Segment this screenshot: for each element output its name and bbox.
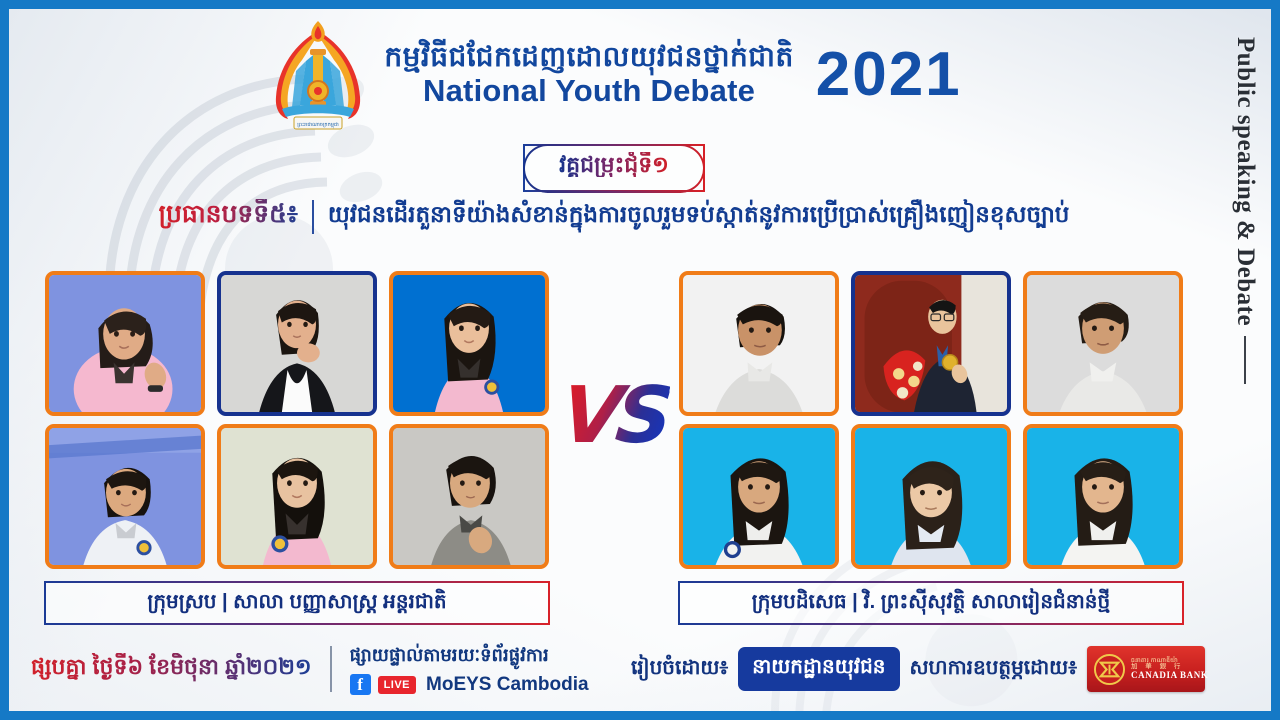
team-left-name: ក្រុមស្រប | សាលា បញ្ញាសាស្ត្រ អន្តរជាតិ	[147, 588, 446, 618]
team-left-photo-5[interactable]	[217, 424, 377, 569]
svg-text:ព្រះរាជាណាចក្រកម្ពុជា: ព្រះរាជាណាចក្រកម្ពុជា	[298, 122, 340, 129]
topic-text: យុវជនដើរតួនាទីយ៉ាងសំខាន់ក្នុងការចូលរួមទប…	[328, 201, 1070, 234]
year-label: 2021	[816, 44, 962, 106]
vertical-strip: Public speaking & Debate	[1219, 9, 1271, 711]
facebook-page-name: MoEYS Cambodia	[426, 674, 589, 696]
team-right: ក្រុមបដិសេធ | វិ. ព្រះស៊ីសុវត្ថិ សាលារៀន…	[678, 271, 1184, 625]
team-right-photo-2[interactable]	[851, 271, 1011, 416]
team-left-photo-1[interactable]	[45, 271, 205, 416]
organizer-label: រៀបចំដោយ៖	[631, 654, 728, 684]
team-left-photo-4[interactable]	[45, 424, 205, 569]
cambodia-moeys-emblem-icon: ព្រះរាជាណាចក្រកម្ពុជា	[266, 17, 370, 133]
canadia-bank-mark-icon	[1094, 654, 1125, 685]
team-right-name: ក្រុមបដិសេធ | វិ. ព្រះស៊ីសុវត្ថិ សាលារៀន…	[752, 588, 1110, 618]
team-right-name-bar: ក្រុមបដិសេធ | វិ. ព្រះស៊ីសុវត្ថិ សាលារៀន…	[678, 581, 1184, 625]
team-right-photo-6[interactable]	[1023, 424, 1183, 569]
event-date: ផ្សបគ្នា ថ្ងៃទី៦ ខែមិថុនា ឆ្នាំ២០២១	[31, 653, 312, 685]
footer-separator-1	[330, 646, 332, 692]
facebook-live-row[interactable]: f LIVE MoEYS Cambodia	[350, 674, 589, 696]
organizer-badge: នាយកដ្ឋានយុវជន	[738, 647, 899, 691]
team-left: ក្រុមស្រប | សាលា បញ្ញាសាស្ត្រ អន្តរជាតិ	[44, 271, 550, 625]
title-english: National Youth Debate	[384, 73, 793, 109]
canadia-bank-logo[interactable]: ធនាគារ កាណាឌីយ៉ា 加 華 銀 行 CANADIA BANK	[1087, 646, 1205, 692]
round-badge-wrap: វគ្គជម្រុះជុំទី១	[9, 144, 1219, 192]
facebook-icon[interactable]: f	[350, 674, 371, 695]
team-right-photo-5[interactable]	[851, 424, 1011, 569]
team-left-photo-6[interactable]	[389, 424, 549, 569]
topic-label: ប្រធានបទទី៥៖	[159, 199, 298, 235]
footer-right: រៀបចំដោយ៖ នាយកដ្ឋានយុវជន សហការឧបត្ថម្ភដោ…	[631, 646, 1205, 692]
team-right-photo-grid	[678, 271, 1184, 569]
team-right-photo-4[interactable]	[679, 424, 839, 569]
vs-column: VS	[550, 271, 678, 461]
topic-row: ប្រធានបទទី៥៖ យុវជនដើរតួនាទីយ៉ាងសំខាន់ក្ន…	[9, 199, 1219, 235]
sponsor-label: សហការឧបត្ថម្ភដោយ៖	[910, 654, 1077, 684]
team-left-name-bar: ក្រុមស្រប | សាលា បញ្ញាសាស្ត្រ អន្តរជាតិ	[44, 581, 550, 625]
broadcast-block: ផ្សាយផ្ទាល់តាមរយៈទំព័រផ្លូវការ f LIVE Mo…	[350, 643, 589, 696]
team-right-photo-1[interactable]	[679, 271, 839, 416]
broadcast-label: ផ្សាយផ្ទាល់តាមរយៈទំព័រផ្លូវការ	[350, 643, 589, 670]
title-block: កម្មវិធីជជែកដេញដោលយុវជនថ្នាក់ជាតិ Nation…	[384, 41, 793, 109]
team-left-photo-3[interactable]	[389, 271, 549, 416]
vertical-divider	[1244, 336, 1246, 384]
teams-section: ក្រុមស្រប | សាលា បញ្ញាសាស្ត្រ អន្តរជាតិ …	[9, 271, 1219, 625]
live-badge: LIVE	[378, 676, 416, 694]
poster-root: ព្រះរាជាណាចក្រកម្ពុជា កម្មវិធីជជែកដេញដោល…	[0, 0, 1280, 720]
round-badge: វគ្គជម្រុះជុំទី១	[523, 144, 705, 192]
team-right-photo-3[interactable]	[1023, 271, 1183, 416]
canadia-bank-text: ធនាគារ កាណាឌីយ៉ា 加 華 銀 行 CANADIA BANK	[1131, 658, 1208, 681]
round-badge-label: វគ្គជម្រុះជុំទី១	[559, 152, 669, 177]
title-khmer: កម្មវិធីជជែកដេញដោលយុវជនថ្នាក់ជាតិ	[384, 41, 793, 73]
vs-label: VS	[557, 371, 671, 461]
team-left-photo-2[interactable]	[217, 271, 377, 416]
team-left-photo-grid	[44, 271, 550, 569]
header: ព្រះរាជាណាចក្រកម្ពុជា កម្មវិធីជជែកដេញដោល…	[9, 17, 1219, 133]
canadia-bank-name-en: CANADIA BANK	[1131, 671, 1208, 680]
topic-separator	[312, 200, 314, 234]
footer: ផ្សបគ្នា ថ្ងៃទី៦ ខែមិថុនា ឆ្នាំ២០២១ ផ្សា…	[9, 633, 1219, 705]
vertical-tagline: Public speaking & Debate	[1231, 37, 1259, 326]
